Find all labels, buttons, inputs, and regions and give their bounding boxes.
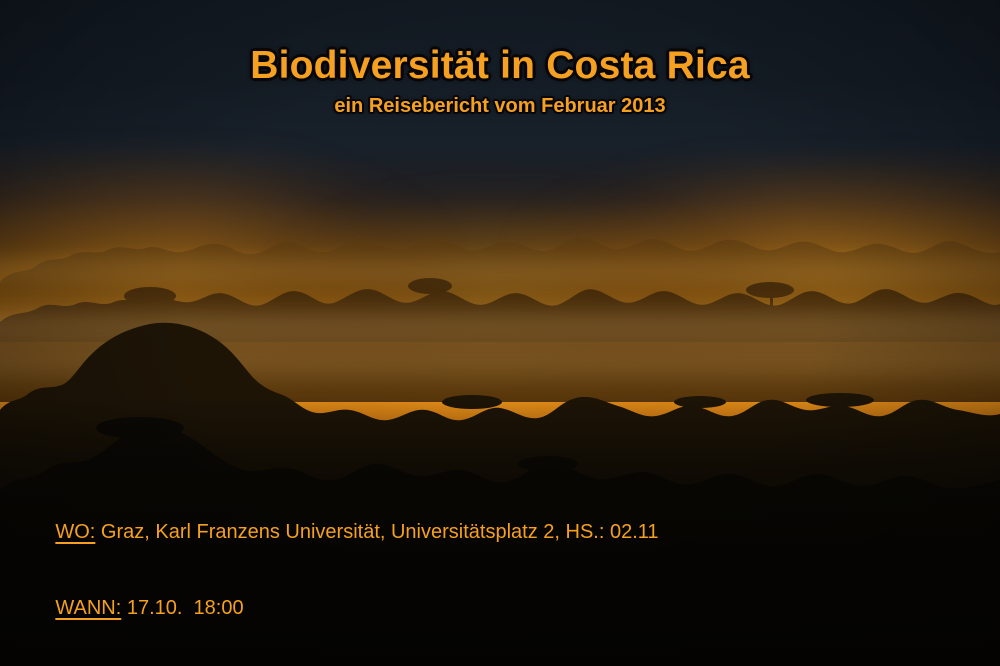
event-time-value: 17.10. 18:00: [121, 597, 243, 619]
event-location-line: WO: Graz, Karl Franzens Universität, Uni…: [22, 502, 659, 562]
event-location-value: Graz, Karl Franzens Universität, Univers…: [95, 521, 658, 543]
event-time-label: WANN:: [55, 597, 121, 619]
poster-title: Biodiversität in Costa Rica: [0, 46, 1000, 87]
title-block: Biodiversität in Costa Rica ein Reiseber…: [0, 46, 1000, 118]
event-info-block: WO: Graz, Karl Franzens Universität, Uni…: [22, 502, 659, 638]
event-time-line: WANN: 17.10. 18:00: [22, 578, 659, 638]
event-poster: Biodiversität in Costa Rica ein Reiseber…: [0, 0, 1000, 666]
event-location-label: WO:: [55, 521, 95, 543]
poster-subtitle: ein Reisebericht vom Februar 2013: [0, 95, 1000, 118]
